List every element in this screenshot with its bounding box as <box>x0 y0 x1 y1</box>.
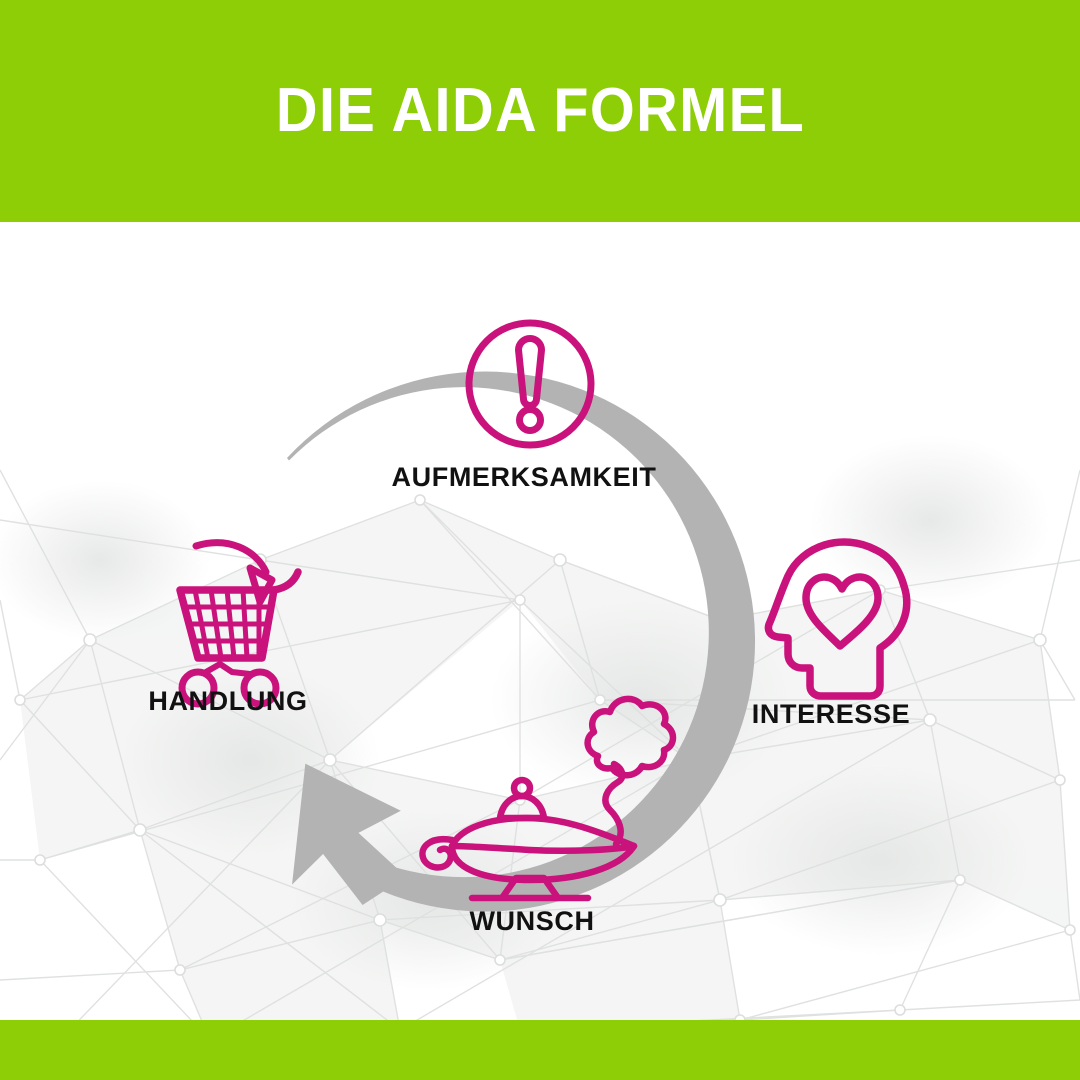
infographic-canvas: AUFMERKSAMKEIT INTERESSE WUNSCH HANDLUNG… <box>0 0 1080 1080</box>
footer-band <box>0 1020 1080 1080</box>
head-with-heart-icon <box>768 542 906 696</box>
circular-arrow <box>276 372 755 915</box>
stage-label-aufmerksamkeit: AUFMERKSAMKEIT <box>392 462 657 493</box>
stage-label-interesse: INTERESSE <box>752 699 910 730</box>
stage-label-handlung: HANDLUNG <box>148 686 307 717</box>
shopping-cart-icon <box>180 543 298 704</box>
header-band: DIE AIDA FORMEL <box>0 0 1080 222</box>
page-title: DIE AIDA FORMEL <box>275 80 804 142</box>
stage-label-wunsch: WUNSCH <box>469 906 594 937</box>
